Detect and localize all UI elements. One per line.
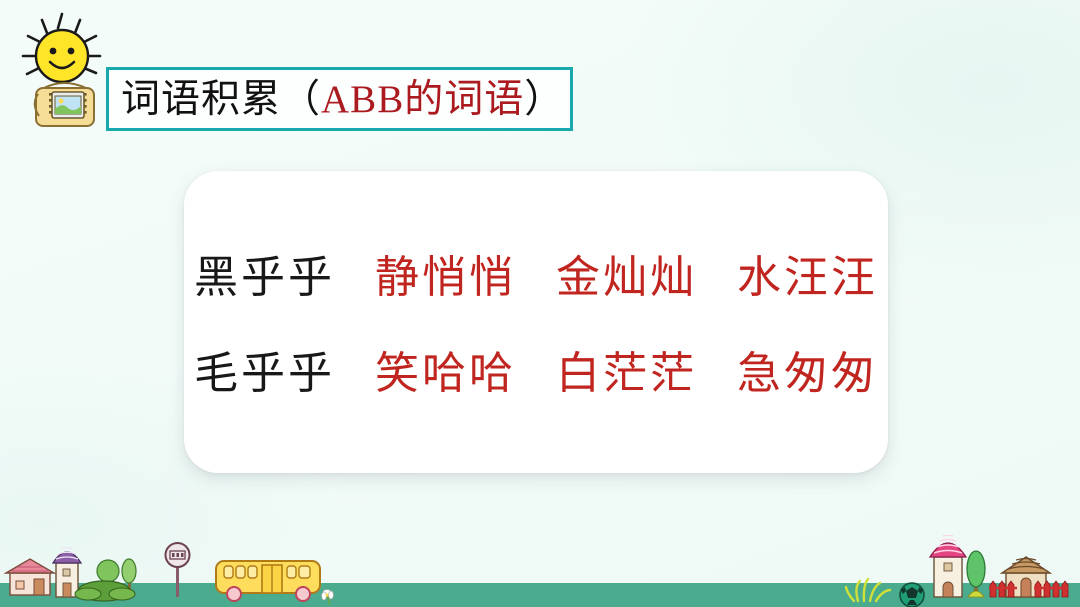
word-item: 黑乎乎 — [194, 256, 335, 300]
word-list: 黑乎乎 静悄悄 金灿灿 水汪汪 毛乎乎 笑哈哈 白茫茫 急匆匆 — [184, 171, 888, 473]
word-card: 黑乎乎 静悄悄 金灿灿 水汪汪 毛乎乎 笑哈哈 白茫茫 急匆匆 — [184, 171, 888, 473]
title-accent: ABB的词语 — [321, 78, 524, 121]
soccer-ball — [900, 583, 924, 607]
word-item: 毛乎乎 — [194, 352, 335, 396]
scenery-right — [840, 535, 1080, 607]
word-row: 毛乎乎 笑哈哈 白茫茫 急匆匆 — [184, 352, 888, 396]
page-title: 词语积累（ABB的词语） — [121, 80, 564, 119]
slide-canvas: 词语积累（ABB的词语） 黑乎乎 静悄悄 金灿灿 水汪汪 毛乎乎 笑哈哈 白茫茫… — [0, 0, 1080, 607]
pink-roof-house — [6, 559, 54, 595]
word-row: 黑乎乎 静悄悄 金灿灿 水汪汪 — [184, 256, 888, 300]
title-suffix: ） — [524, 78, 564, 121]
word-item: 白茫茫 — [556, 352, 697, 396]
sun-with-schoolbag-icon — [14, 8, 118, 136]
scenery-left — [0, 535, 340, 607]
word-item: 静悄悄 — [375, 256, 516, 300]
title-prefix: 词语积累（ — [121, 78, 321, 121]
title-box: 词语积累（ABB的词语） — [106, 67, 573, 131]
purple-tower — [53, 548, 81, 597]
pink-castle-tower — [930, 535, 966, 597]
word-item: 笑哈哈 — [375, 352, 516, 396]
word-item: 急匆匆 — [737, 352, 878, 396]
word-item: 水汪汪 — [737, 256, 878, 300]
word-item: 金灿灿 — [556, 256, 697, 300]
